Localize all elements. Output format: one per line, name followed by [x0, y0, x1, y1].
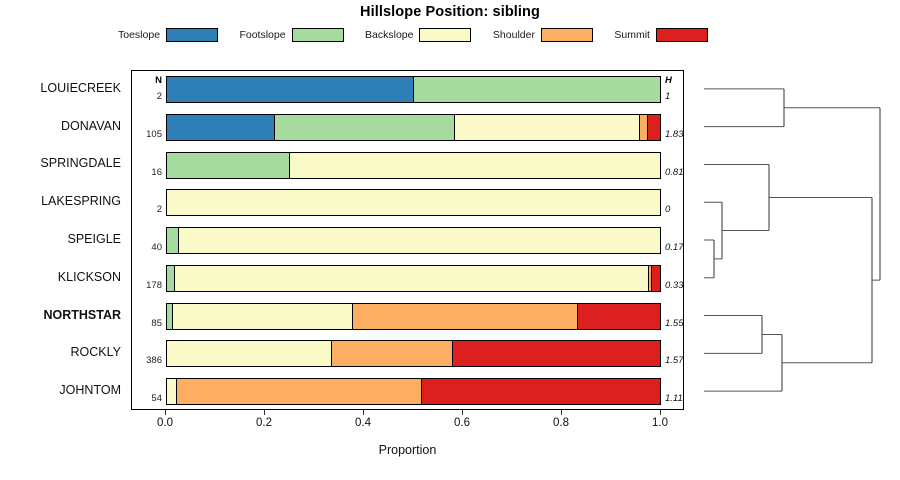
bar-segment-backslope: [167, 190, 660, 215]
stacked-bar: [166, 378, 661, 405]
legend-item-backslope: Backslope: [365, 28, 471, 42]
bar-segment-summit: [578, 304, 660, 329]
legend: Toeslope Footslope Backslope Shoulder Su…: [118, 26, 708, 44]
y-axis-label-louiecreek: LOUIECREEK: [0, 81, 121, 95]
table-row: NH21: [132, 71, 683, 109]
y-axis-label-speigle: SPEIGLE: [0, 232, 121, 246]
bar-segment-backslope: [173, 304, 353, 329]
stacked-bar: [166, 152, 661, 179]
stacked-bar: [166, 76, 661, 103]
y-axis-label-johntom: JOHNTOM: [0, 383, 121, 397]
table-row: 20: [132, 184, 683, 222]
row-h-value: 1.55: [665, 318, 691, 329]
legend-item-summit: Summit: [614, 28, 708, 42]
row-h-value: 1.83: [665, 129, 691, 140]
x-tick: [462, 410, 463, 415]
table-row: 400.17: [132, 222, 683, 260]
row-n-value: 85: [132, 318, 162, 329]
table-row: 541.11: [132, 373, 683, 411]
y-axis-label-northstar: NORTHSTAR: [0, 308, 121, 322]
bar-segment-footslope: [167, 266, 175, 291]
legend-item-footslope: Footslope: [239, 28, 343, 42]
row-n-value: 105: [132, 129, 162, 140]
table-row: 3861.57: [132, 335, 683, 373]
row-h-value: 1: [665, 91, 691, 102]
row-h-value: 1.57: [665, 355, 691, 366]
row-n-value: 386: [132, 355, 162, 366]
bar-segment-shoulder: [177, 379, 422, 404]
bar-segment-shoulder: [353, 304, 578, 329]
row-h-value: 1.11: [665, 393, 691, 404]
bar-segment-toeslope: [167, 77, 414, 102]
x-tick-label: 0.2: [244, 417, 284, 429]
x-axis-title: Proportion: [131, 443, 684, 457]
table-row: 160.81: [132, 147, 683, 185]
legend-swatch-footslope: [292, 28, 344, 42]
bar-rows: NH211051.83160.8120400.171780.33851.5538…: [132, 71, 683, 409]
h-column-header: H: [665, 75, 691, 86]
bar-segment-summit: [422, 379, 660, 404]
legend-swatch-shoulder: [541, 28, 593, 42]
bar-segment-shoulder: [332, 341, 453, 366]
row-h-value: 0.81: [665, 167, 691, 178]
stacked-bar: [166, 227, 661, 254]
row-n-value: 40: [132, 242, 162, 253]
x-tick: [561, 410, 562, 415]
legend-label-shoulder: Shoulder: [493, 29, 535, 41]
table-row: 851.55: [132, 298, 683, 336]
bar-segment-summit: [648, 115, 660, 140]
stacked-bar: [166, 114, 661, 141]
bar-segment-shoulder: [640, 115, 647, 140]
legend-swatch-summit: [656, 28, 708, 42]
row-n-value: 2: [132, 91, 162, 102]
row-h-value: 0.33: [665, 280, 691, 291]
bar-segment-footslope: [414, 77, 661, 102]
table-row: 1780.33: [132, 260, 683, 298]
legend-label-summit: Summit: [614, 29, 650, 41]
y-axis-label-klickson: KLICKSON: [0, 270, 121, 284]
bar-segment-backslope: [167, 379, 177, 404]
y-axis-label-rockly: ROCKLY: [0, 345, 121, 359]
chart-root: Hillslope Position: sibling Toeslope Foo…: [0, 0, 900, 480]
stacked-bar: [166, 189, 661, 216]
bar-segment-backslope: [167, 341, 332, 366]
plot-panel: NH211051.83160.8120400.171780.33851.5538…: [131, 70, 684, 410]
x-tick-label: 0.0: [145, 417, 185, 429]
x-tick-label: 1.0: [640, 417, 680, 429]
bar-segment-backslope: [175, 266, 649, 291]
bar-segment-toeslope: [167, 115, 275, 140]
stacked-bar: [166, 340, 661, 367]
legend-label-toeslope: Toeslope: [118, 29, 160, 41]
x-tick-label: 0.6: [442, 417, 482, 429]
row-n-value: 178: [132, 280, 162, 291]
row-n-value: 16: [132, 167, 162, 178]
stacked-bar: [166, 265, 661, 292]
x-tick-label: 0.4: [343, 417, 383, 429]
bar-segment-footslope: [167, 153, 290, 178]
n-column-header: N: [132, 75, 162, 86]
bar-segment-footslope: [167, 228, 179, 253]
row-n-value: 2: [132, 204, 162, 215]
bar-segment-summit: [453, 341, 660, 366]
bar-segment-backslope: [179, 228, 660, 253]
y-axis-label-lakespring: LAKESPRING: [0, 194, 121, 208]
legend-label-footslope: Footslope: [239, 29, 285, 41]
row-h-value: 0.17: [665, 242, 691, 253]
bar-segment-summit: [652, 266, 660, 291]
legend-item-shoulder: Shoulder: [493, 28, 593, 42]
bar-segment-footslope: [275, 115, 455, 140]
x-tick: [264, 410, 265, 415]
y-axis-label-donavan: DONAVAN: [0, 119, 121, 133]
table-row: 1051.83: [132, 109, 683, 147]
dendrogram: [690, 70, 900, 410]
legend-swatch-backslope: [419, 28, 471, 42]
row-h-value: 0: [665, 204, 691, 215]
x-tick: [165, 410, 166, 415]
dendrogram-svg: [690, 70, 900, 410]
bar-segment-backslope: [455, 115, 640, 140]
x-tick-label: 0.8: [541, 417, 581, 429]
legend-swatch-toeslope: [166, 28, 218, 42]
chart-title: Hillslope Position: sibling: [0, 4, 900, 20]
y-axis-label-springdale: SPRINGDALE: [0, 156, 121, 170]
legend-item-toeslope: Toeslope: [118, 28, 218, 42]
y-axis-labels: LOUIECREEKDONAVANSPRINGDALELAKESPRINGSPE…: [0, 70, 127, 410]
x-tick: [363, 410, 364, 415]
row-n-value: 54: [132, 393, 162, 404]
stacked-bar: [166, 303, 661, 330]
x-tick: [660, 410, 661, 415]
legend-label-backslope: Backslope: [365, 29, 413, 41]
x-axis: 0.00.20.40.60.81.0: [131, 410, 684, 436]
bar-segment-backslope: [290, 153, 660, 178]
